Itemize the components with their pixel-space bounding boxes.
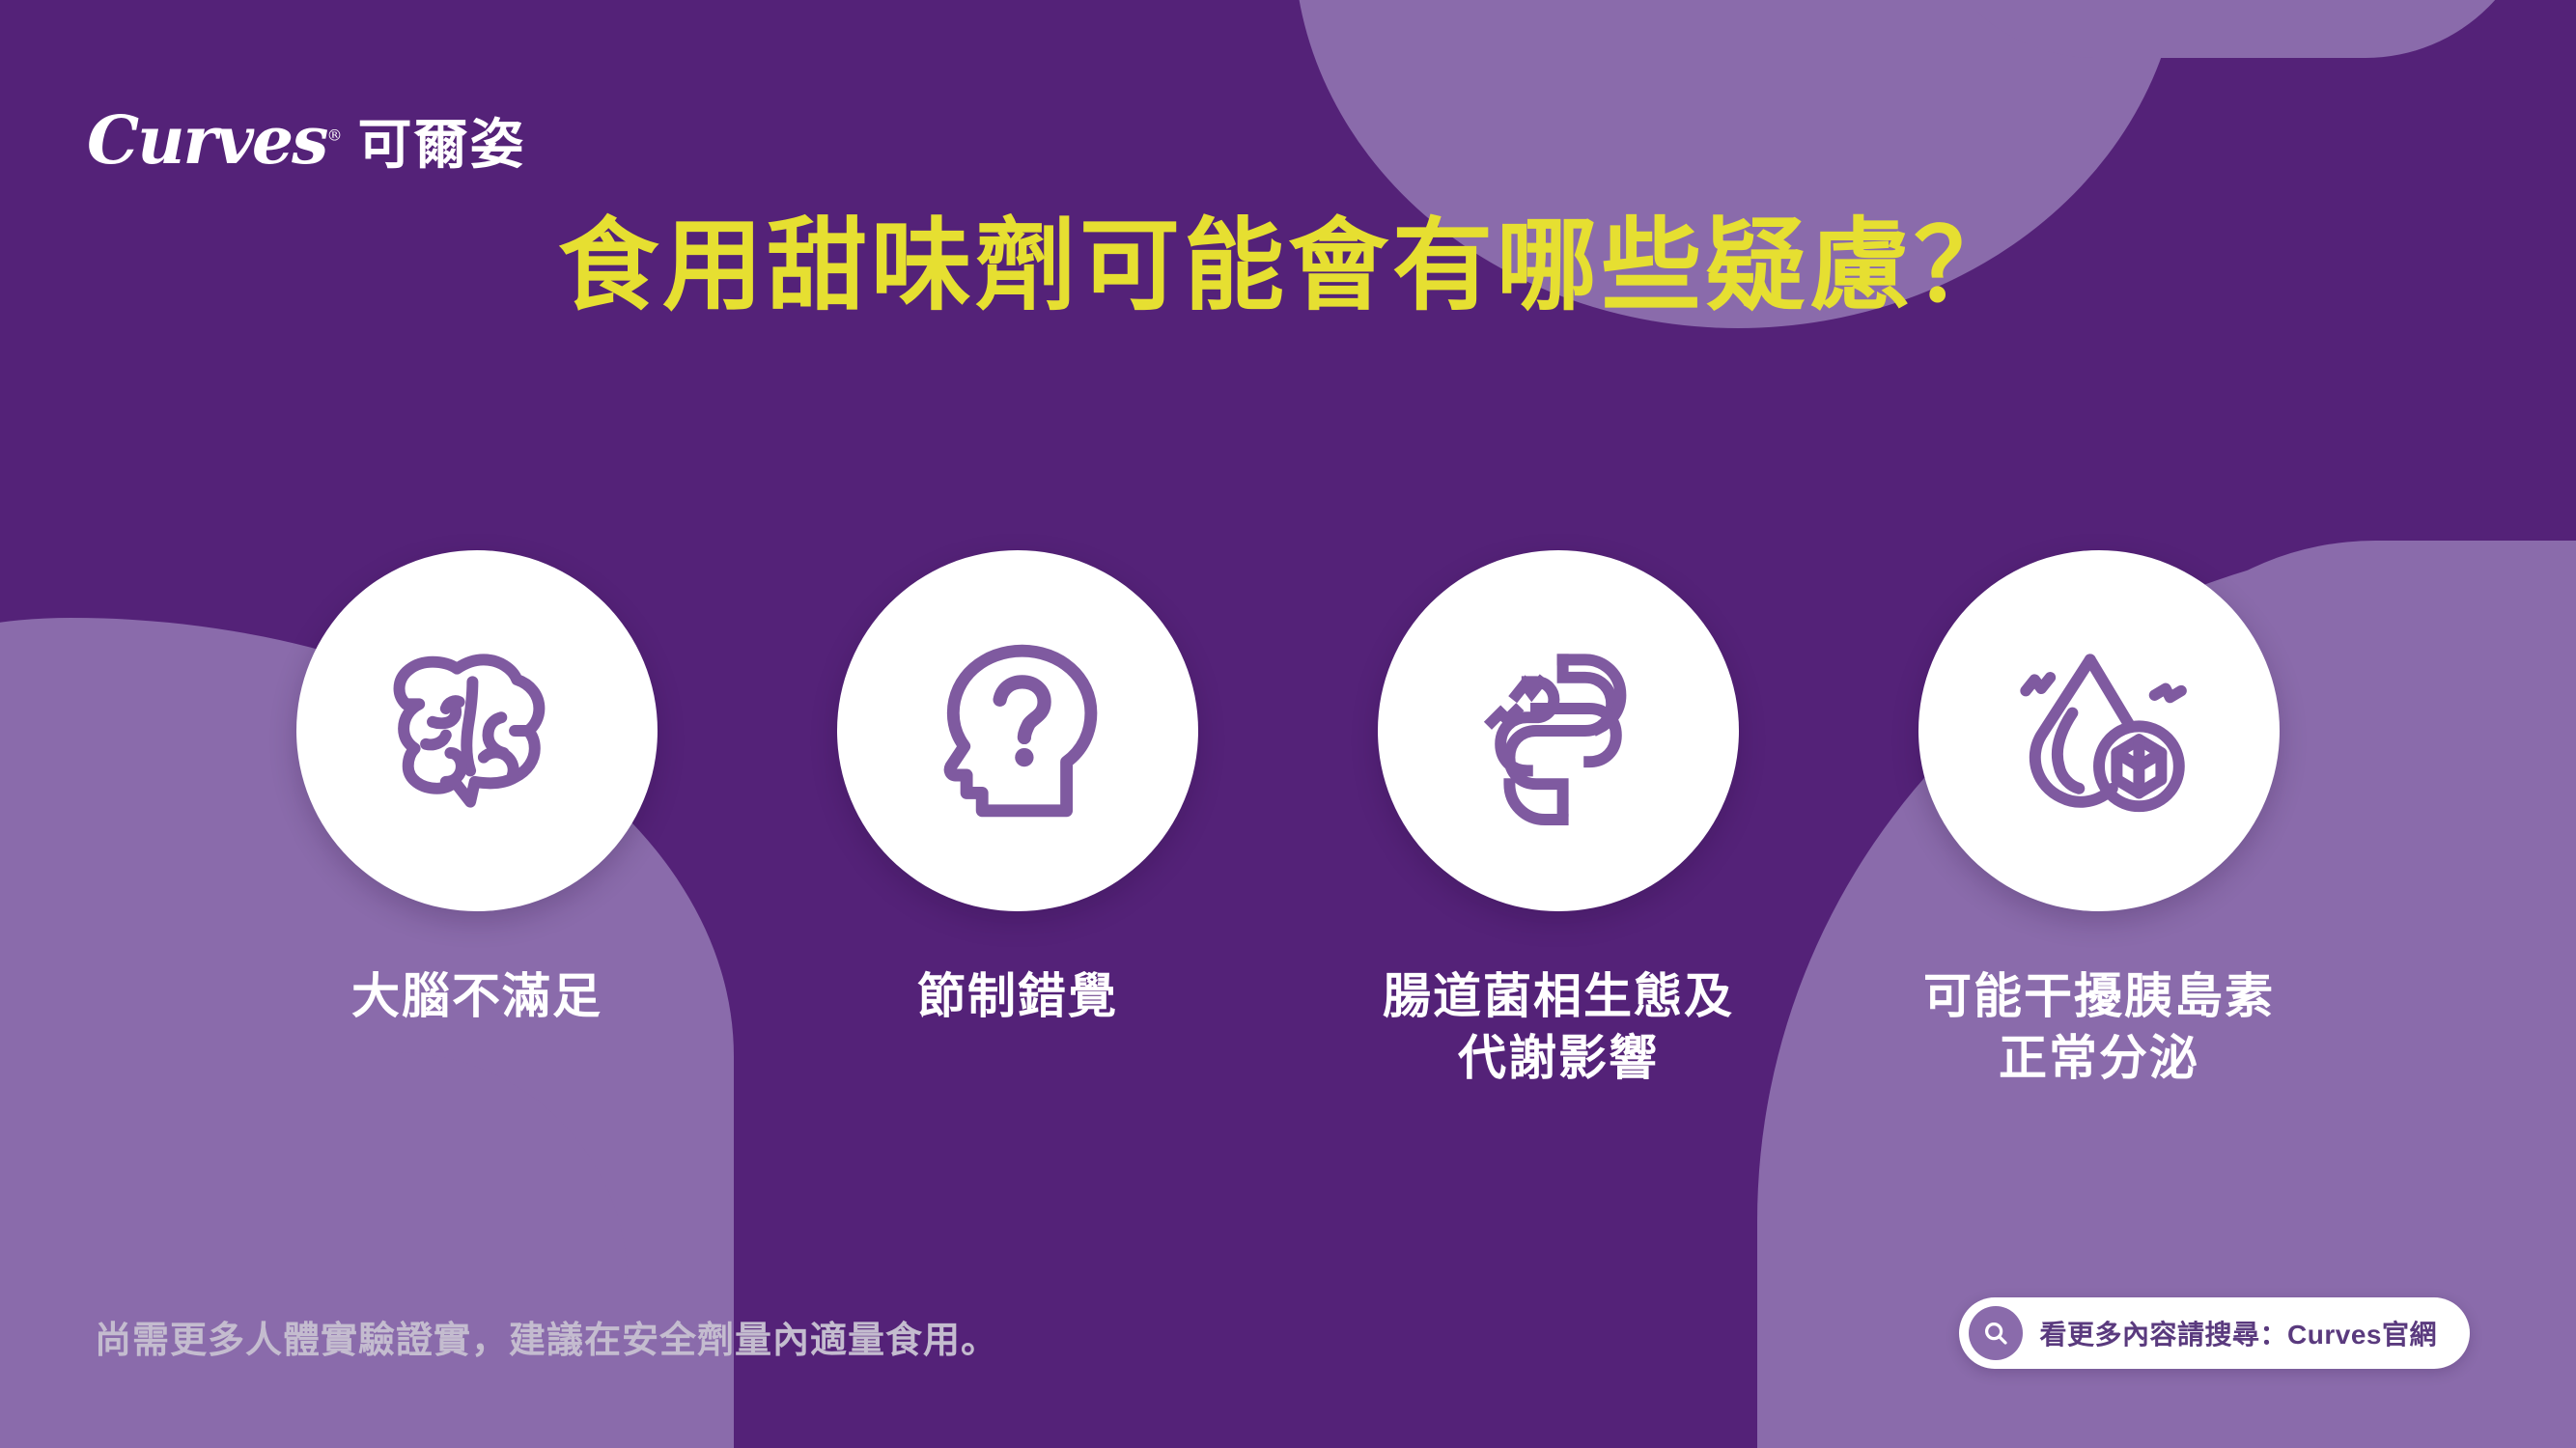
page-title: 食用甜味劑可能會有哪些疑慮？ [0, 210, 2576, 322]
concerns-list: 大腦不滿足 節制錯覺 [0, 550, 2576, 1089]
intestine-icon [1447, 620, 1669, 842]
head-question-icon [907, 620, 1129, 842]
icon-badge [837, 550, 1198, 911]
brain-icon [366, 620, 588, 842]
search-cta-label: 看更多內容請搜尋：Curves官網 [2040, 1314, 2437, 1352]
brand-logo-cjk: 可爾姿 [357, 117, 525, 174]
search-cta[interactable]: 看更多內容請搜尋：Curves官網 [1959, 1297, 2470, 1369]
list-item-label: 可能干擾胰島素 正常分泌 [1923, 965, 2275, 1089]
list-item: 可能干擾胰島素 正常分泌 [1896, 550, 2302, 1089]
list-item-label: 節制錯覺 [917, 965, 1118, 1027]
search-icon [1969, 1306, 2023, 1360]
icon-badge [1918, 550, 2280, 911]
brand-logo-script: Curves® [87, 108, 340, 174]
icon-badge [1378, 550, 1739, 911]
list-item: 大腦不滿足 [274, 550, 680, 1027]
decorative-blob-bottom-left-2 [0, 1052, 628, 1448]
blood-drop-sugar-icon [1988, 620, 2210, 842]
list-item: 節制錯覺 [815, 550, 1220, 1027]
brand-logo: Curves® 可爾姿 [87, 108, 525, 174]
icon-badge [296, 550, 658, 911]
infographic-canvas: Curves® 可爾姿 食用甜味劑可能會有哪些疑慮？ 大腦不滿足 [0, 0, 2576, 1448]
list-item-label: 大腦不滿足 [351, 965, 602, 1027]
list-item-label: 腸道菌相生態及 代謝影響 [1383, 965, 1734, 1089]
registered-trademark-icon: ® [326, 125, 340, 144]
list-item: 腸道菌相生態及 代謝影響 [1356, 550, 1761, 1089]
footer-disclaimer: 尚需更多人體實驗證實，建議在安全劑量內適量食用。 [95, 1310, 998, 1363]
